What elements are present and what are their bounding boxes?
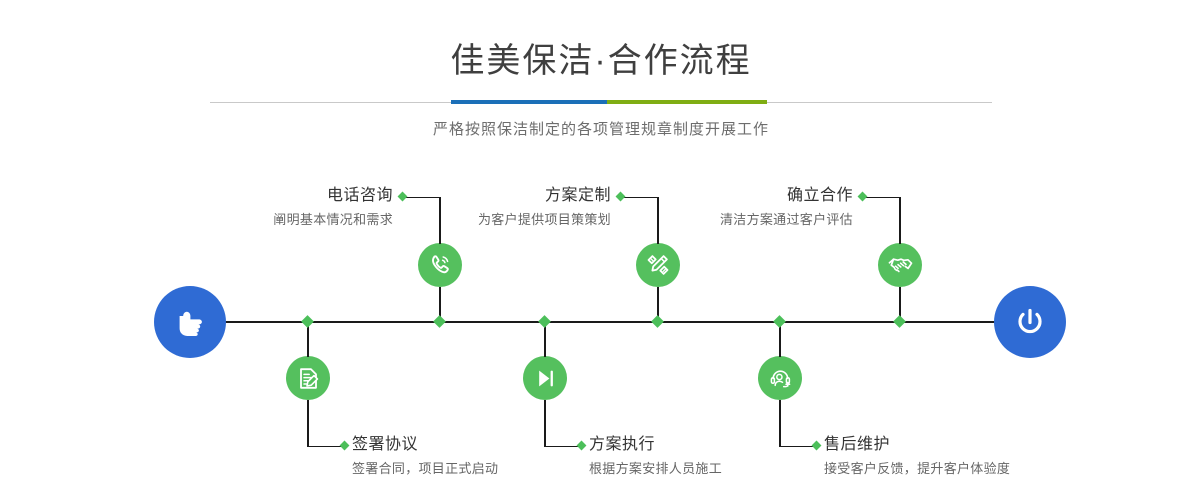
step-title-top-2: 方案定制 [370, 188, 611, 204]
timeline-end-node[interactable] [994, 286, 1066, 358]
axis-marker-2 [433, 315, 446, 328]
step-icon-top-2[interactable] [636, 243, 680, 287]
connector-top-3-horizontal [864, 197, 900, 199]
step-icon-bottom-3[interactable] [758, 356, 802, 400]
connector-bottom-3-vertical-lower [779, 400, 781, 446]
step-subtitle-top-1: 阐明基本情况和需求 [150, 213, 393, 226]
step-subtitle-bottom-3: 接受客户反馈，提升客户体验度 [824, 462, 1124, 475]
step-title-top-3: 确立合作 [612, 188, 853, 204]
step-label-top-3: 确立合作 清洁方案通过客户评估 [612, 188, 853, 226]
step-icon-bottom-1[interactable] [286, 356, 330, 400]
step-subtitle-bottom-2: 根据方案安排人员施工 [589, 462, 849, 475]
step-icon-top-3[interactable] [878, 243, 922, 287]
step-title-top-1: 电话咨询 [150, 188, 393, 204]
connector-top-3-vertical-upper [899, 197, 901, 244]
marker-top-3 [858, 192, 868, 202]
pencil-ruler-icon [645, 252, 671, 278]
step-title-bottom-3: 售后维护 [824, 437, 1124, 453]
infographic-canvas: 佳美保洁·合作流程 严格按照保洁制定的各项管理规章制度开展工作 [0, 0, 1202, 502]
power-button-icon [1010, 302, 1050, 342]
step-label-bottom-1: 签署协议 签署合同，项目正式启动 [352, 437, 612, 475]
axis-marker-5 [773, 315, 786, 328]
step-subtitle-top-2: 为客户提供项目策策划 [370, 213, 611, 226]
step-label-bottom-3: 售后维护 接受客户反馈，提升客户体验度 [824, 437, 1124, 475]
step-label-bottom-2: 方案执行 根据方案安排人员施工 [589, 437, 849, 475]
handshake-icon [887, 252, 914, 279]
play-skip-icon [533, 366, 558, 391]
step-icon-bottom-2[interactable] [523, 356, 567, 400]
headset-support-icon [768, 366, 793, 391]
timeline-start-node[interactable] [154, 286, 226, 358]
axis-marker-1 [301, 315, 314, 328]
pointing-hand-icon [171, 303, 209, 341]
connector-bottom-3-horizontal [779, 446, 815, 448]
connector-bottom-2-vertical-lower [544, 400, 546, 446]
axis-marker-3 [538, 315, 551, 328]
axis-marker-4 [651, 315, 664, 328]
document-edit-icon [296, 366, 321, 391]
process-timeline: 电话咨询 阐明基本情况和需求 方案定制 为客户提供项目策策划 [0, 0, 1202, 502]
step-icon-top-1[interactable] [418, 243, 462, 287]
phone-call-icon [427, 252, 453, 278]
marker-bottom-1 [340, 441, 350, 451]
connector-bottom-2-horizontal [544, 446, 580, 448]
step-subtitle-top-3: 清洁方案通过客户评估 [612, 213, 853, 226]
step-label-top-1: 电话咨询 阐明基本情况和需求 [150, 188, 393, 226]
connector-bottom-1-vertical-lower [307, 400, 309, 446]
step-label-top-2: 方案定制 为客户提供项目策策划 [370, 188, 611, 226]
connector-bottom-1-horizontal [307, 446, 343, 448]
axis-marker-6 [893, 315, 906, 328]
step-subtitle-bottom-1: 签署合同，项目正式启动 [352, 462, 612, 475]
